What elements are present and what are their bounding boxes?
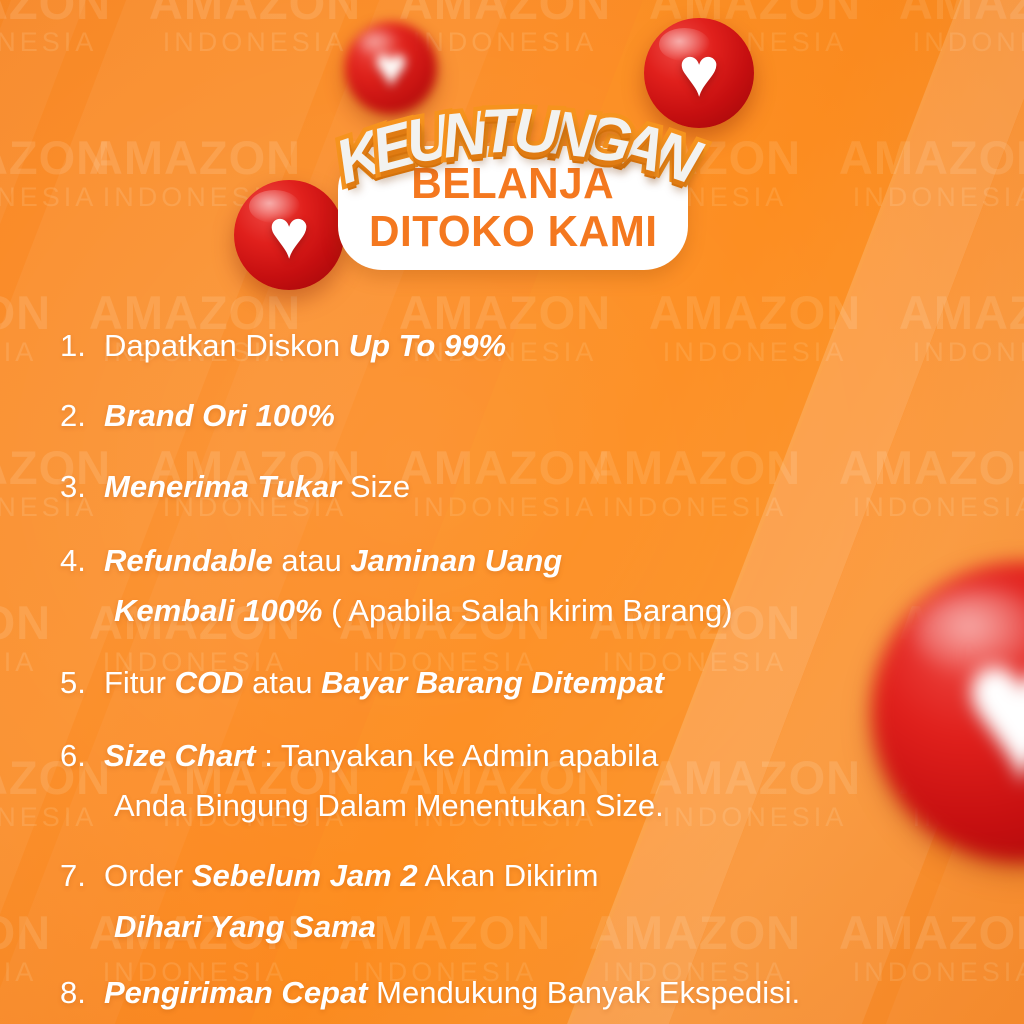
- benefit-emphasis: Bayar Barang Ditempat: [321, 665, 664, 700]
- benefit-text: Brand Ori 100%: [104, 396, 970, 436]
- benefit-emphasis: Pengiriman Cepat: [104, 975, 368, 1010]
- poster-header: KEUNTUNGAN BELANJA DITOKO KAMI: [0, 0, 1024, 310]
- benefit-number: 8.: [60, 973, 104, 1013]
- benefit-text-line: Anda Bingung Dalam Menentukan Size.: [104, 786, 970, 826]
- benefit-emphasis: Kembali 100%: [114, 593, 323, 628]
- benefits-list: 1.Dapatkan Diskon Up To 99%2.Brand Ori 1…: [60, 326, 970, 1013]
- benefit-emphasis: Refundable: [104, 543, 273, 578]
- benefit-number: 7.: [60, 856, 104, 896]
- benefit-plain: Order: [104, 858, 192, 893]
- watermark-main-text: AMAZON: [0, 599, 51, 646]
- benefit-emphasis: Dihari Yang Sama: [114, 909, 376, 944]
- benefit-emphasis: Sebelum Jam 2: [192, 858, 418, 893]
- benefit-plain: Anda Bingung Dalam Menentukan Size.: [114, 788, 664, 823]
- benefit-row: 7.Order Sebelum Jam 2 Akan DikirimDihari…: [60, 856, 970, 947]
- benefit-text: Dapatkan Diskon Up To 99%: [104, 326, 970, 366]
- benefit-plain: : Tanyakan ke Admin apabila: [256, 738, 659, 773]
- benefit-plain: atau: [244, 665, 322, 700]
- benefit-text-line: Dihari Yang Sama: [104, 907, 970, 947]
- benefit-number: 2.: [60, 396, 104, 436]
- benefit-number: 1.: [60, 326, 104, 366]
- benefit-plain: Fitur: [104, 665, 175, 700]
- watermark-main-text: AMAZON: [0, 909, 51, 956]
- benefit-text: Size Chart : Tanyakan ke Admin apabilaAn…: [104, 736, 970, 827]
- benefit-plain: Size: [341, 469, 410, 504]
- benefit-text: Pengiriman Cepat Mendukung Banyak Eksped…: [104, 973, 970, 1013]
- benefit-number: 3.: [60, 467, 104, 507]
- benefit-plain: atau: [273, 543, 351, 578]
- benefit-text: Fitur COD atau Bayar Barang Ditempat: [104, 663, 970, 703]
- benefit-emphasis: Size Chart: [104, 738, 256, 773]
- benefit-row: 4.Refundable atau Jaminan UangKembali 10…: [60, 541, 970, 632]
- benefit-text: Menerima Tukar Size: [104, 467, 970, 507]
- title-card-line-2: DITOKO KAMI: [369, 210, 657, 254]
- benefit-row: 6.Size Chart : Tanyakan ke Admin apabila…: [60, 736, 970, 827]
- watermark-sub-text: INDONESIA: [0, 649, 37, 676]
- heart-icon: ♥: [268, 206, 310, 263]
- benefit-emphasis: Brand Ori 100%: [104, 398, 335, 433]
- benefit-emphasis: Jaminan Uang: [350, 543, 562, 578]
- arched-title: KEUNTUNGAN: [248, 74, 788, 194]
- watermark-sub-text: INDONESIA: [0, 339, 37, 366]
- benefit-text-line: Kembali 100% ( Apabila Salah kirim Baran…: [104, 591, 970, 631]
- benefit-number: 6.: [60, 736, 104, 776]
- heart-icon: ♥: [961, 628, 1024, 796]
- benefit-row: 3.Menerima Tukar Size: [60, 467, 970, 507]
- benefit-emphasis: Up To 99%: [349, 328, 506, 363]
- watermark-sub-text: INDONESIA: [0, 959, 37, 986]
- benefit-emphasis: COD: [175, 665, 244, 700]
- benefit-row: 8.Pengiriman Cepat Mendukung Banyak Eksp…: [60, 973, 970, 1013]
- promo-poster: AMAZONINDONESIAAMAZONINDONESIAAMAZONINDO…: [0, 0, 1024, 1024]
- benefit-plain: Akan Dikirim: [418, 858, 599, 893]
- arch-letter: U: [512, 96, 559, 169]
- benefit-emphasis: Menerima Tukar: [104, 469, 341, 504]
- benefit-plain: Mendukung Banyak Ekspedisi.: [368, 975, 801, 1010]
- benefit-row: 1.Dapatkan Diskon Up To 99%: [60, 326, 970, 366]
- benefit-text: Refundable atau Jaminan UangKembali 100%…: [104, 541, 970, 632]
- benefit-text: Order Sebelum Jam 2 Akan DikirimDihari Y…: [104, 856, 970, 947]
- benefit-number: 4.: [60, 541, 104, 581]
- benefit-row: 2.Brand Ori 100%: [60, 396, 970, 436]
- benefit-plain: Dapatkan Diskon: [104, 328, 349, 363]
- benefit-row: 5.Fitur COD atau Bayar Barang Ditempat: [60, 663, 970, 703]
- benefit-plain: ( Apabila Salah kirim Barang): [323, 593, 733, 628]
- benefit-number: 5.: [60, 663, 104, 703]
